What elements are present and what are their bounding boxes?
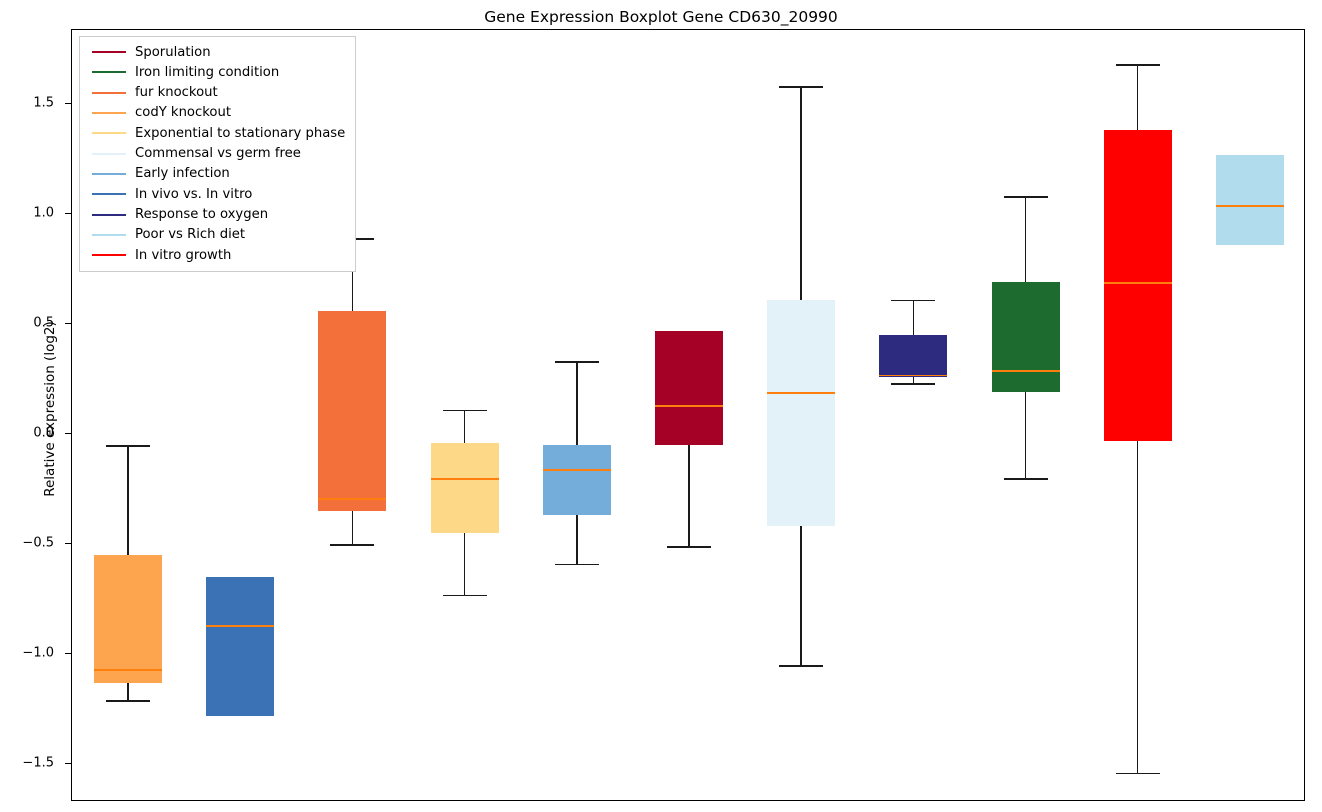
- legend-item-label: Response to oxygen: [135, 208, 268, 221]
- median-line: [1216, 205, 1284, 207]
- page-title: Gene Expression Boxplot Gene CD630_20990: [0, 8, 1322, 26]
- median-line: [431, 478, 499, 480]
- whisker-upper: [800, 86, 801, 299]
- whisker-lower: [576, 515, 577, 563]
- chart-root: Gene Expression Boxplot Gene CD630_20990…: [0, 0, 1322, 812]
- median-line: [655, 405, 723, 407]
- box-rect[interactable]: [1216, 155, 1284, 245]
- whisker-cap-upper: [106, 445, 150, 447]
- median-line: [318, 498, 386, 500]
- box-rect[interactable]: [206, 577, 274, 716]
- median-line: [1104, 282, 1172, 284]
- whisker-cap-upper: [1004, 196, 1048, 198]
- whisker-lower: [800, 526, 801, 665]
- whisker-lower: [127, 683, 128, 701]
- legend-item[interactable]: In vitro growth: [86, 245, 349, 265]
- box-rect[interactable]: [655, 331, 723, 445]
- legend-item[interactable]: Response to oxygen: [86, 204, 349, 224]
- legend-swatch-icon: [92, 193, 126, 195]
- whisker-cap-upper: [779, 86, 823, 88]
- y-tick-label: 1.0: [8, 206, 54, 221]
- whisker-cap-lower: [106, 700, 150, 702]
- whisker-lower: [1025, 392, 1026, 478]
- legend-swatch-icon: [92, 132, 126, 134]
- boxplot-box-group[interactable]: [1194, 30, 1306, 802]
- boxplot-box-group[interactable]: [521, 30, 633, 802]
- legend-swatch-icon: [92, 254, 126, 256]
- whisker-lower: [352, 511, 353, 544]
- legend-item[interactable]: codY knockout: [86, 103, 349, 123]
- box-rect[interactable]: [992, 282, 1060, 392]
- legend-item[interactable]: Iron limiting condition: [86, 62, 349, 82]
- legend-item-label: In vitro growth: [135, 249, 231, 262]
- box-rect[interactable]: [879, 335, 947, 377]
- legend-swatch-icon: [92, 71, 126, 73]
- whisker-cap-lower: [443, 595, 487, 597]
- median-line: [94, 669, 162, 671]
- whisker-upper: [127, 445, 128, 555]
- whisker-lower: [1137, 441, 1138, 773]
- legend: SporulationIron limiting conditionfur kn…: [79, 36, 356, 272]
- box-rect[interactable]: [767, 300, 835, 527]
- box-rect[interactable]: [1104, 130, 1172, 440]
- legend-item-label: Poor vs Rich diet: [135, 228, 245, 241]
- whisker-upper: [1137, 64, 1138, 130]
- legend-swatch-icon: [92, 234, 126, 236]
- median-line: [879, 375, 947, 377]
- whisker-cap-lower: [779, 665, 823, 667]
- legend-item-label: Early infection: [135, 167, 230, 180]
- boxplot-box-group[interactable]: [745, 30, 857, 802]
- y-tick-label: −1.0: [8, 646, 54, 661]
- legend-item[interactable]: In vivo vs. In vitro: [86, 184, 349, 204]
- legend-item[interactable]: Exponential to stationary phase: [86, 123, 349, 143]
- median-line: [992, 370, 1060, 372]
- whisker-cap-lower: [555, 564, 599, 566]
- whisker-lower: [464, 533, 465, 595]
- legend-item[interactable]: Commensal vs germ free: [86, 143, 349, 163]
- median-line: [767, 392, 835, 394]
- whisker-cap-lower: [330, 544, 374, 546]
- y-tick-label: 0.5: [8, 316, 54, 331]
- whisker-cap-lower: [1004, 478, 1048, 480]
- legend-swatch-icon: [92, 214, 126, 216]
- whisker-cap-upper: [891, 300, 935, 302]
- boxplot-box-group[interactable]: [969, 30, 1081, 802]
- legend-item-label: codY knockout: [135, 106, 231, 119]
- y-tick-label: 1.5: [8, 96, 54, 111]
- whisker-cap-lower: [1116, 773, 1160, 775]
- y-axis-label: Relative expression (log2): [42, 89, 58, 729]
- legend-swatch-icon: [92, 112, 126, 114]
- legend-item[interactable]: Poor vs Rich diet: [86, 225, 349, 245]
- legend-item-label: Iron limiting condition: [135, 66, 279, 79]
- box-rect[interactable]: [94, 555, 162, 683]
- median-line: [206, 625, 274, 627]
- legend-item[interactable]: fur knockout: [86, 83, 349, 103]
- legend-item[interactable]: Sporulation: [86, 42, 349, 62]
- whisker-upper: [576, 361, 577, 445]
- legend-item-label: In vivo vs. In vitro: [135, 188, 252, 201]
- whisker-cap-lower: [667, 546, 711, 548]
- median-line: [543, 469, 611, 471]
- boxplot-box-group[interactable]: [633, 30, 745, 802]
- whisker-cap-upper: [1116, 64, 1160, 66]
- legend-swatch-icon: [92, 153, 126, 155]
- box-rect[interactable]: [431, 443, 499, 533]
- whisker-cap-lower: [891, 383, 935, 385]
- legend-swatch-icon: [92, 92, 126, 94]
- legend-item-label: Exponential to stationary phase: [135, 127, 345, 140]
- legend-item[interactable]: Early infection: [86, 164, 349, 184]
- legend-item-label: Sporulation: [135, 46, 211, 59]
- whisker-upper: [913, 300, 914, 335]
- y-tick-label: 0.0: [8, 426, 54, 441]
- box-rect[interactable]: [318, 311, 386, 511]
- legend-swatch-icon: [92, 51, 126, 53]
- whisker-lower: [688, 445, 689, 546]
- boxplot-box-group[interactable]: [857, 30, 969, 802]
- whisker-upper: [1025, 196, 1026, 282]
- box-rect[interactable]: [543, 445, 611, 515]
- whisker-lower: [913, 377, 914, 384]
- boxplot-box-group[interactable]: [1082, 30, 1194, 802]
- boxplot-box-group[interactable]: [409, 30, 521, 802]
- y-axis-label-wrap: Relative expression (log2): [14, 29, 34, 801]
- y-tick-label: −0.5: [8, 536, 54, 551]
- legend-item-label: Commensal vs germ free: [135, 147, 301, 160]
- whisker-cap-upper: [443, 410, 487, 412]
- whisker-upper: [464, 410, 465, 443]
- legend-item-label: fur knockout: [135, 86, 218, 99]
- legend-swatch-icon: [92, 173, 126, 175]
- whisker-cap-upper: [555, 361, 599, 363]
- y-tick-label: −1.5: [8, 756, 54, 771]
